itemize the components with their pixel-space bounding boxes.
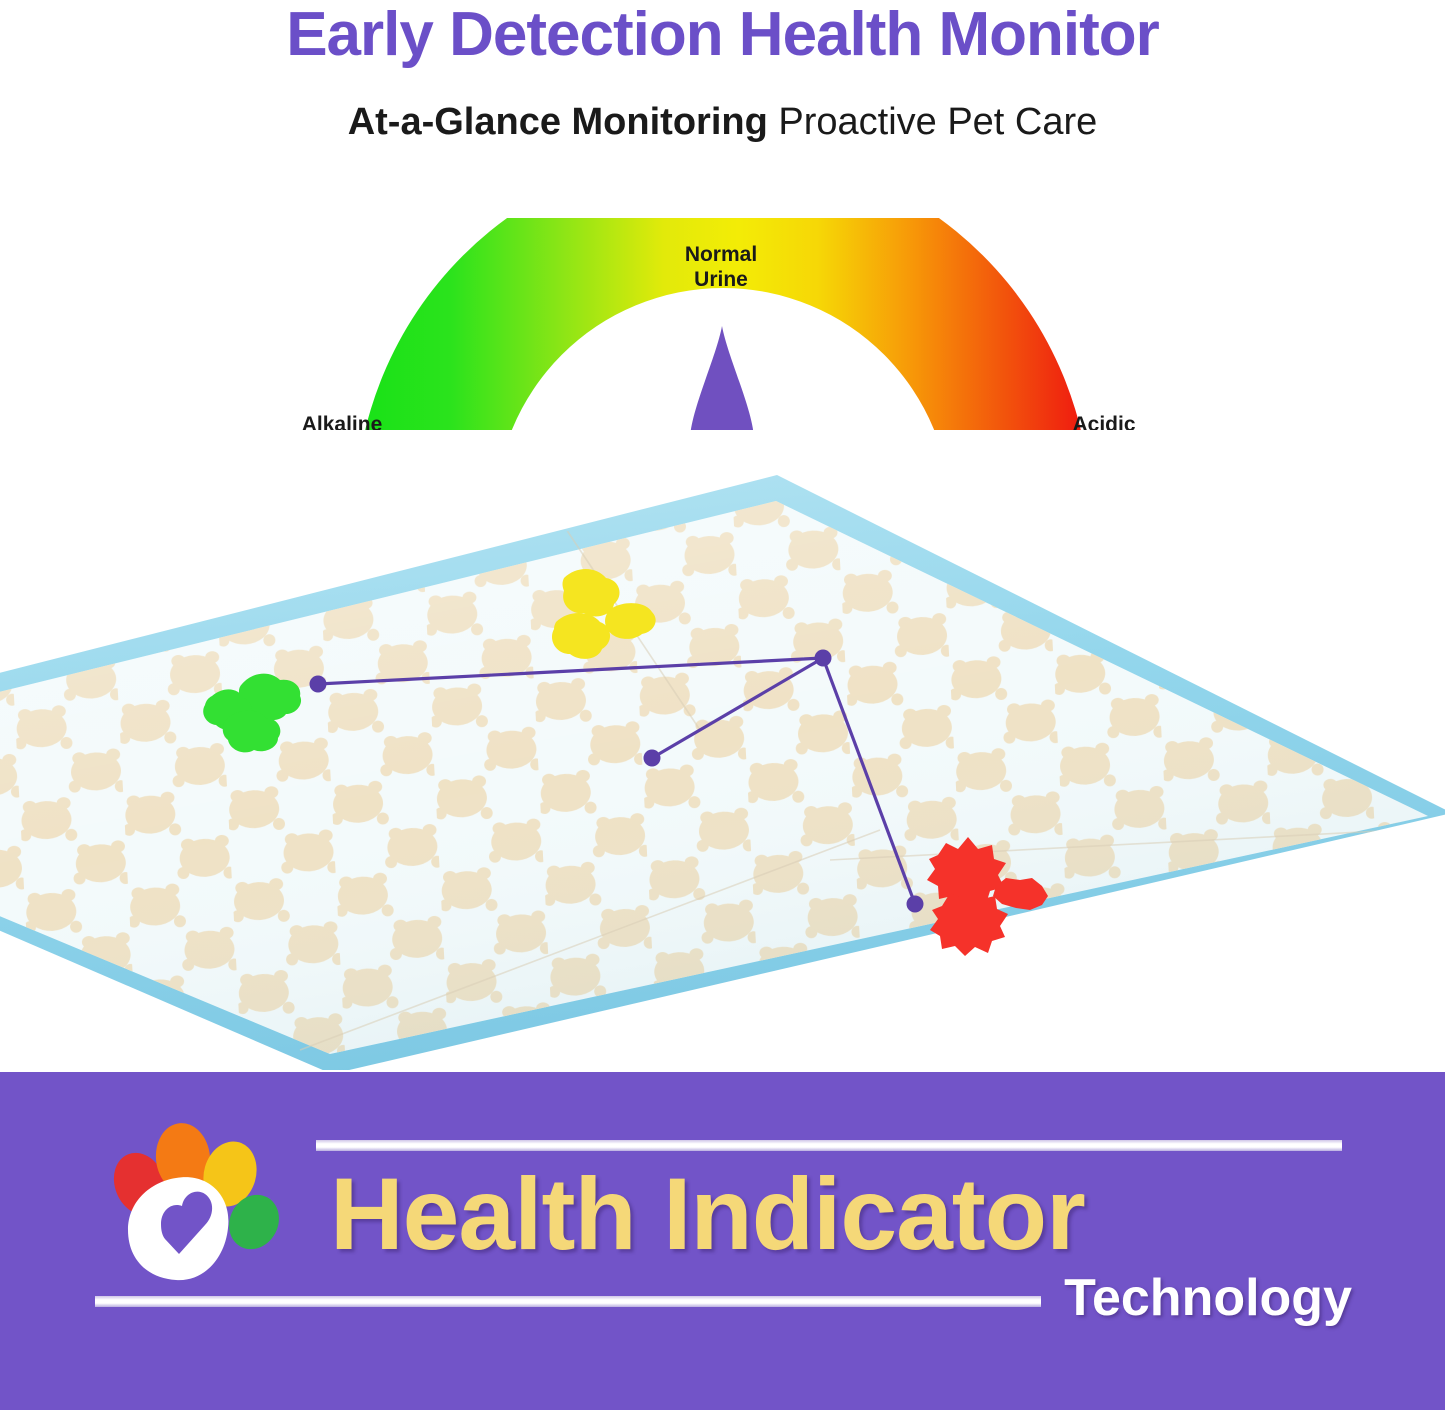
gauge-label-normal-line2: Urine bbox=[596, 267, 846, 292]
brand-tagline: Technology bbox=[0, 1272, 1352, 1324]
indicator-dot-acidic bbox=[907, 896, 924, 913]
indicator-hub-dot bbox=[815, 650, 832, 667]
indicator-dot-alkaline bbox=[310, 676, 327, 693]
paw-heart-logo-icon bbox=[108, 1112, 290, 1294]
gauge-label-normal-line1: Normal bbox=[596, 242, 846, 267]
header-section: Early Detection Health Monitor At-a-Glan… bbox=[0, 0, 1445, 175]
subtitle-regular-part: Proactive Pet Care bbox=[768, 101, 1097, 143]
page-subtitle: At-a-Glance Monitoring Proactive Pet Car… bbox=[0, 102, 1445, 144]
page-title: Early Detection Health Monitor bbox=[0, 2, 1445, 67]
subtitle-bold-part: At-a-Glance Monitoring bbox=[348, 101, 768, 143]
brand-name: Health Indicator bbox=[330, 1163, 1390, 1265]
pee-pad-photo: PetsWorld™ bbox=[0, 430, 1445, 1070]
banner-rule-top bbox=[316, 1140, 1342, 1151]
indicator-dot-normal bbox=[644, 750, 661, 767]
gauge-label-normal: Normal Urine bbox=[596, 242, 846, 292]
pad-illustration-svg bbox=[0, 430, 1445, 1070]
